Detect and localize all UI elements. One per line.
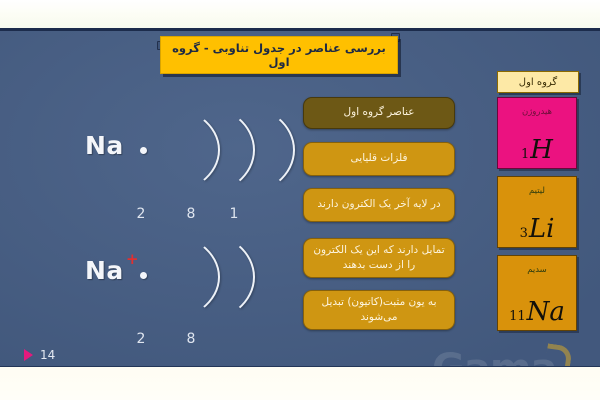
fact-button-3-label: تمایل دارند که این یک الکترون را از دست … bbox=[313, 243, 445, 273]
cation-shell-count-2: 8 bbox=[182, 331, 200, 347]
symbol-glyph-sodium: Na bbox=[527, 297, 565, 327]
element-symbol-sodium: 11Na bbox=[498, 299, 576, 325]
slide-viewer: بررسی عناصر در جدول تناوبی - گروه اول Na… bbox=[0, 0, 600, 400]
atomic-number-sodium: 11 bbox=[509, 309, 526, 324]
element-name-lithium: لیتیم bbox=[498, 186, 576, 196]
play-icon[interactable] bbox=[24, 349, 33, 361]
symbol-glyph-lithium: Li bbox=[529, 214, 555, 244]
shell-count-3: 1 bbox=[225, 206, 243, 222]
element-symbol-hydrogen: 1H bbox=[498, 137, 576, 163]
page-indicator[interactable]: 14 bbox=[24, 348, 55, 362]
symbol-glyph-hydrogen: H bbox=[530, 135, 553, 165]
atomic-number-hydrogen: 1 bbox=[521, 147, 529, 162]
element-name-hydrogen: هیدروژن bbox=[498, 107, 576, 117]
gama-swoosh-icon bbox=[544, 343, 573, 367]
fact-button-4[interactable]: به یون مثبت(کاتیون) تبدیل می‌شوند bbox=[303, 290, 455, 330]
fact-button-1-label: فلزات قلیایی bbox=[351, 151, 408, 166]
bottom-margin-strip bbox=[0, 367, 600, 400]
fact-button-0-label: عناصر گروه اول bbox=[344, 105, 415, 120]
fact-button-2-label: در لایه آخر یک الکترون دارند bbox=[317, 197, 440, 212]
cation-shell-arc-2 bbox=[145, 231, 255, 323]
fact-button-3[interactable]: تمایل دارند که این یک الکترون را از دست … bbox=[303, 238, 455, 278]
element-cell-hydrogen[interactable]: هیدروژن 1H bbox=[497, 97, 577, 169]
element-symbol-lithium: 3Li bbox=[498, 216, 576, 242]
page-number-label: 14 bbox=[40, 348, 55, 362]
cation-shell-count-1: 2 bbox=[132, 331, 150, 347]
shell-count-2: 8 bbox=[182, 206, 200, 222]
fact-button-1[interactable]: فلزات قلیایی bbox=[303, 142, 455, 176]
slide-canvas: بررسی عناصر در جدول تناوبی - گروه اول Na… bbox=[0, 31, 600, 367]
fact-button-2[interactable]: در لایه آخر یک الکترون دارند bbox=[303, 188, 455, 222]
atomic-number-lithium: 3 bbox=[520, 226, 528, 241]
gama-watermark: Gama bbox=[432, 349, 557, 367]
shell-count-1: 2 bbox=[132, 206, 150, 222]
fact-button-4-label: به یون مثبت(کاتیون) تبدیل می‌شوند bbox=[313, 295, 445, 325]
fact-button-0[interactable]: عناصر گروه اول bbox=[303, 97, 455, 129]
top-margin-strip bbox=[0, 0, 600, 28]
element-name-sodium: سدیم bbox=[498, 265, 576, 275]
element-cell-lithium[interactable]: لیتیم 3Li bbox=[497, 176, 577, 248]
group-column-header: گروه اول bbox=[497, 71, 579, 93]
element-cell-sodium[interactable]: سدیم 11Na bbox=[497, 255, 577, 331]
group-column-header-label: گروه اول bbox=[519, 77, 557, 88]
sodium-cation-diagram: Na + 2 8 bbox=[0, 31, 300, 161]
